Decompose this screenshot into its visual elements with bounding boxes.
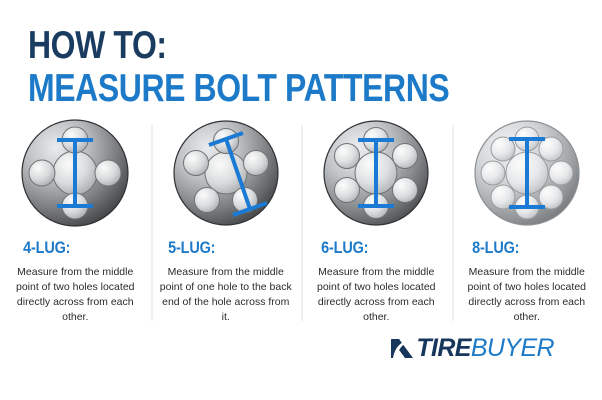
tirebuyer-logo: TIREBUYER [390, 335, 554, 361]
lug-heading-6: 6-LUG: [321, 238, 368, 258]
lug-column-6: 6-LUG: Measure from the middle point of … [301, 117, 452, 325]
logo-text-buyer: BUYER [471, 334, 554, 362]
lug-column-8: 8-LUG: Measure from the middle point of … [452, 117, 602, 325]
wheel-hub-5-lug-icon [170, 117, 282, 229]
title-line-how-to: HOW TO: [28, 26, 449, 65]
lug-description-4: Measure from the middle point of two hol… [7, 265, 143, 325]
logo-wordmark: TIREBUYER [416, 336, 554, 361]
lug-description-5: Measure from the middle point of one hol… [158, 265, 294, 325]
lug-heading-5: 5-LUG: [168, 238, 215, 258]
infographic-canvas: HOW TO: MEASURE BOLT PATTERNS [0, 0, 602, 400]
wheel-hub-4-lug-icon [19, 117, 131, 229]
wheel-hub-8-lug-icon [471, 117, 583, 229]
lug-column-5: 5-LUG: Measure from the middle point of … [151, 117, 302, 325]
logo-text-tire: TIRE [416, 334, 471, 362]
lug-pattern-columns: 4-LUG: Measure from the middle point of … [0, 117, 602, 325]
tirebuyer-swoosh-icon [390, 337, 414, 359]
title-line-measure-bolt-patterns: MEASURE BOLT PATTERNS [28, 69, 449, 108]
wheel-hub-6-lug-icon [320, 117, 432, 229]
page-title: HOW TO: MEASURE BOLT PATTERNS [28, 26, 542, 108]
lug-description-6: Measure from the middle point of two hol… [308, 265, 444, 325]
lug-heading-4: 4-LUG: [23, 238, 70, 258]
lug-column-4: 4-LUG: Measure from the middle point of … [0, 117, 151, 325]
lug-description-8: Measure from the middle point of two hol… [459, 265, 595, 325]
lug-heading-8: 8-LUG: [472, 238, 519, 258]
